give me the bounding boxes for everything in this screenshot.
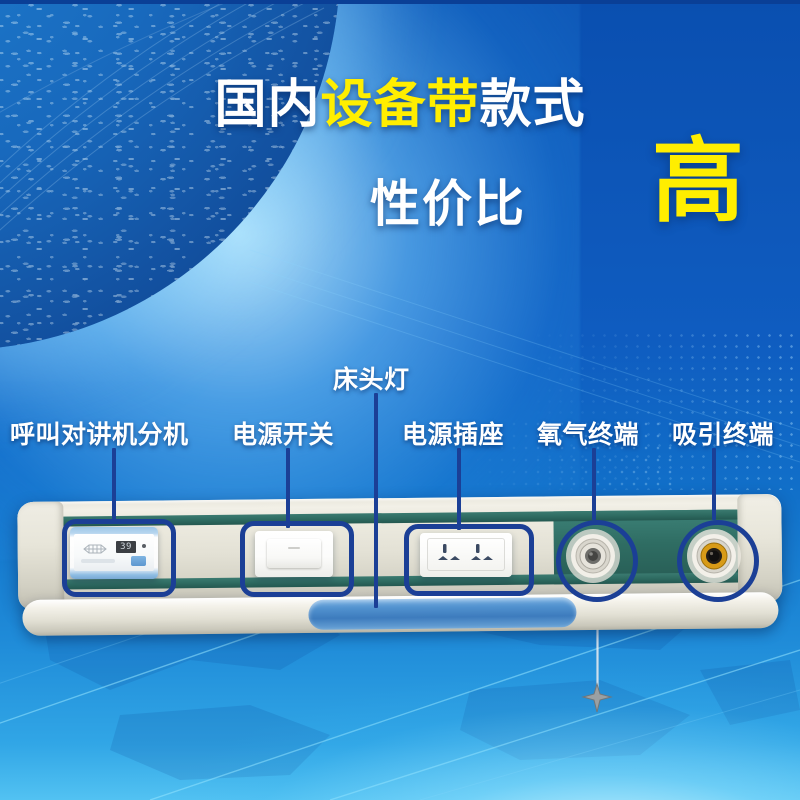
leader-line-power-switch [286, 448, 290, 528]
callout-label-oxygen-terminal: 氧气终端 [537, 415, 639, 451]
leader-line-power-socket [457, 448, 461, 530]
leader-line-nurse-call-intercom [112, 448, 116, 524]
callout-label-suction-terminal: 吸引终端 [672, 415, 774, 451]
leader-line-suction-terminal [712, 448, 716, 520]
leader-line-oxygen-terminal [592, 448, 596, 520]
promotional-product-image: 国内设备带款式 性价比 高 呼叫对讲机分机 电源开关 床头灯 电源插座 氧气终端… [0, 0, 800, 800]
callout-label-power-switch: 电源开关 [232, 415, 334, 451]
leader-line-bed-lamp [374, 393, 378, 608]
callout-layer: 呼叫对讲机分机 电源开关 床头灯 电源插座 氧气终端 吸引终端 [0, 0, 800, 800]
callout-label-bed-lamp: 床头灯 [333, 360, 410, 396]
callout-label-power-socket: 电源插座 [402, 415, 504, 451]
callout-label-nurse-call-intercom: 呼叫对讲机分机 [10, 415, 189, 451]
